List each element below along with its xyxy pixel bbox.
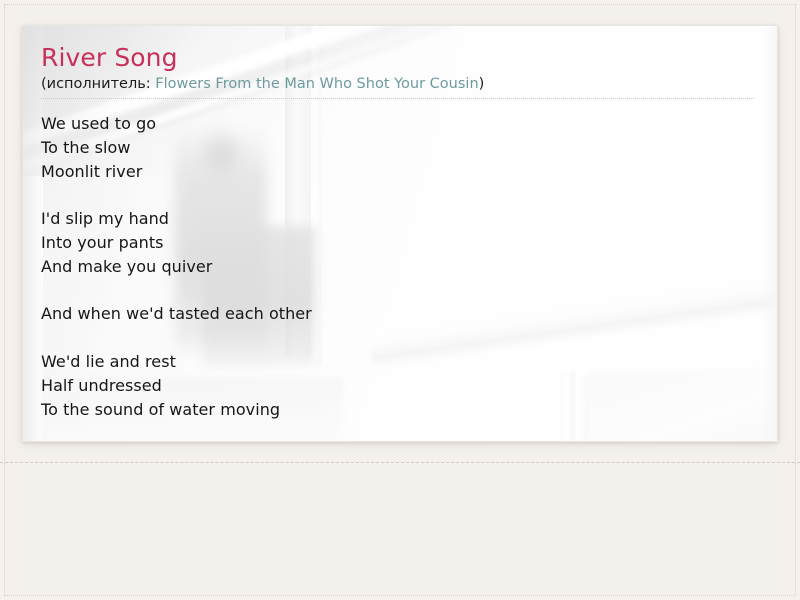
lyric-line: Half undressed (41, 374, 777, 398)
lyric-line: To the sound of water moving (41, 398, 777, 422)
lyric-stanza: We'd lie and restHalf undressedTo the so… (41, 350, 777, 421)
lyric-line: And when we'd tasted each other (41, 302, 777, 326)
lyrics-body: We used to goTo the slowMoonlit riverI'd… (41, 112, 777, 421)
page-title: River Song (41, 43, 777, 73)
artist-link[interactable]: Flowers From the Man Who Shot Your Cousi… (155, 76, 478, 92)
lyric-line: Moonlit river (41, 160, 777, 184)
artist-close-paren: ) (479, 76, 485, 92)
lyric-stanza: And when we'd tasted each other (41, 302, 777, 326)
lyrics-card: River Song (исполнитель: Flowers From th… (22, 25, 778, 442)
lyric-line: We'd lie and rest (41, 350, 777, 374)
lyric-line: And make you quiver (41, 255, 777, 279)
lyric-line: Into your pants (41, 231, 777, 255)
artist-label: (исполнитель: (41, 76, 151, 92)
lyric-stanza: I'd slip my handInto your pantsAnd make … (41, 207, 777, 278)
below-card-divider (0, 462, 800, 463)
lyric-stanza: We used to goTo the slowMoonlit river (41, 112, 777, 183)
lyric-line: We used to go (41, 112, 777, 136)
artist-credit-line: (исполнитель: Flowers From the Man Who S… (41, 74, 754, 99)
lyric-line: I'd slip my hand (41, 207, 777, 231)
card-content: River Song (исполнитель: Flowers From th… (23, 26, 777, 421)
lyric-line: To the slow (41, 136, 777, 160)
